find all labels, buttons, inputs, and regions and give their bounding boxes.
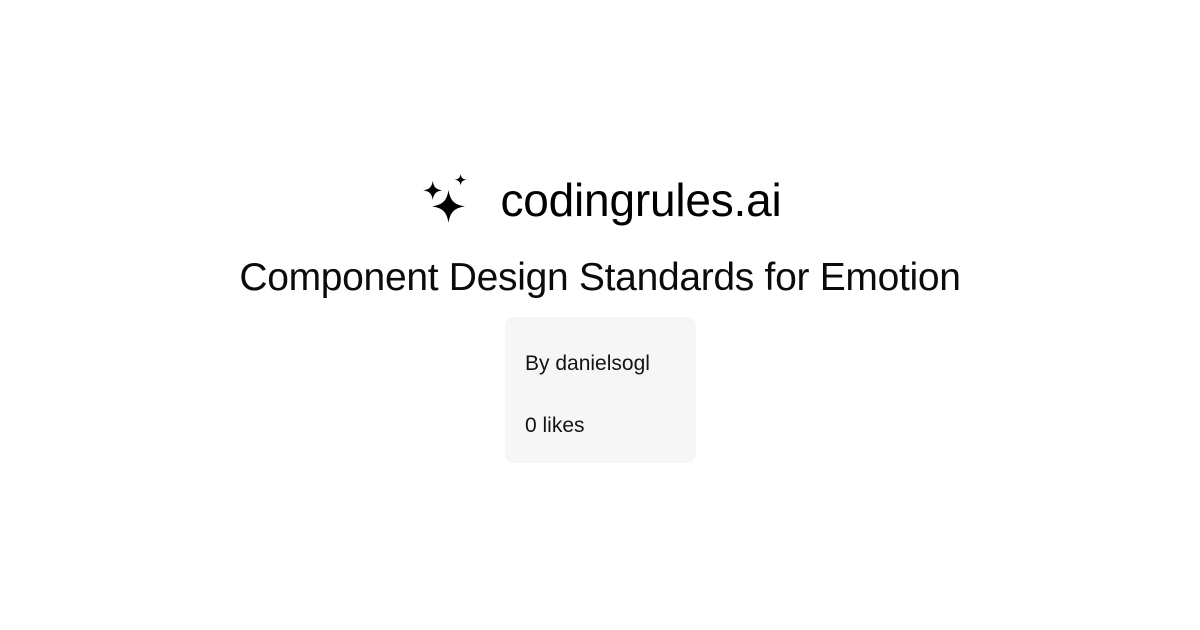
- author-label: By danielsogl: [525, 351, 676, 377]
- meta-panel: By danielsogl 0 likes: [505, 317, 696, 463]
- likes-count-label: 0 likes: [525, 413, 676, 439]
- brand-lockup: codingrules.ai: [0, 163, 1200, 237]
- brand-name: codingrules.ai: [500, 177, 781, 223]
- og-share-card: codingrules.ai Component Design Standard…: [0, 0, 1200, 630]
- sparkles-icon: [418, 170, 480, 232]
- page-title: Component Design Standards for Emotion: [60, 255, 1140, 301]
